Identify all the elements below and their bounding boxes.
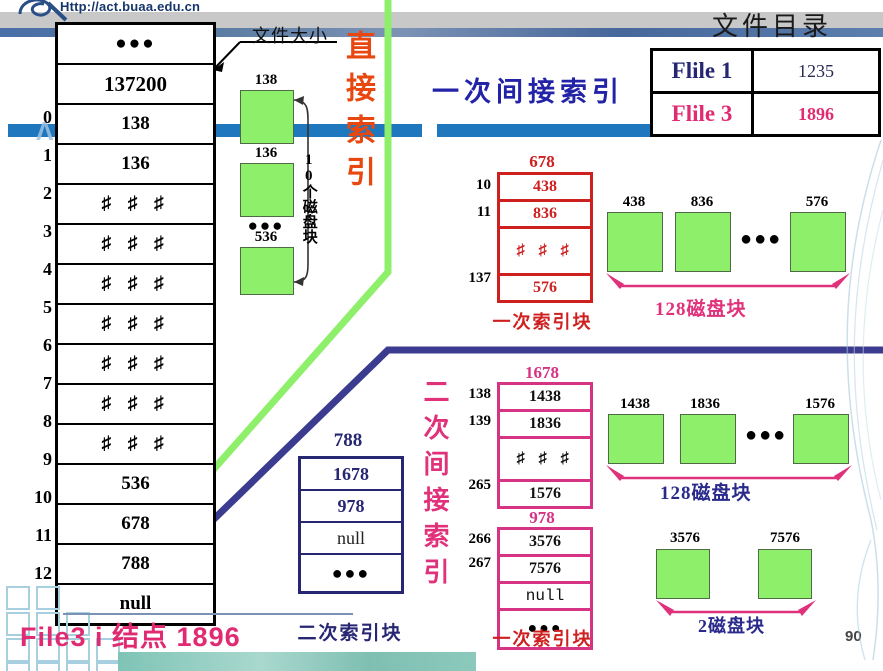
double-index-root-table: 1678 978 null ●●●: [298, 456, 404, 594]
footer-caption: File3 i 结点 1896: [20, 615, 241, 654]
index-row-number: 137: [448, 270, 491, 287]
index-entry[interactable]: 1678: [301, 459, 401, 491]
file-name-cell: Flile 1: [653, 51, 754, 91]
inode-row[interactable]: ♯ ♯ ♯: [58, 265, 213, 305]
single-indirect-caption: 一次间接索引: [432, 70, 624, 109]
index-row-number: 11: [455, 204, 491, 221]
index-entry[interactable]: null: [301, 523, 401, 555]
index-row-number: 265: [448, 477, 491, 494]
index-entry[interactable]: 1836: [500, 412, 590, 439]
disk-block[interactable]: [240, 90, 294, 144]
inode-row[interactable]: 536: [58, 465, 213, 505]
index-entry[interactable]: 1576: [500, 482, 590, 506]
table-row[interactable]: Flile 3 1896: [653, 94, 878, 134]
double-index-root-caption: 二次索引块: [285, 618, 415, 645]
direct-index-caption: 直接索引: [335, 30, 379, 198]
index-entry[interactable]: 3576: [500, 530, 590, 557]
index-entry[interactable]: 438: [500, 175, 590, 202]
disk-block-label: 3576: [655, 530, 715, 547]
disk-block[interactable]: [240, 163, 294, 217]
disk-block-label: 836: [675, 194, 729, 211]
disk-block[interactable]: [607, 212, 663, 272]
disk-block-label: 136: [240, 145, 292, 162]
direct-index-bracket-label: 10个磁盘块: [300, 152, 316, 244]
level2a-header: 1678: [497, 363, 587, 383]
disk-block-label: 1438: [605, 396, 665, 413]
inode-index: 6: [18, 326, 52, 364]
disk-block[interactable]: [656, 549, 710, 599]
decorative-swirl-lines: [793, 140, 883, 660]
inode-index: 7: [18, 364, 52, 402]
disk-block[interactable]: [240, 247, 294, 295]
inode-index: 4: [18, 250, 52, 288]
single-index-block-caption: 一次索引块: [470, 308, 615, 334]
bottom-accent-strip: [118, 652, 476, 671]
inode-index-column: 0 1 2 3 4 5 6 7 8 9 10 11 12: [18, 22, 52, 592]
inode-row[interactable]: ♯ ♯ ♯: [58, 425, 213, 465]
level2b-span-label: 2磁盘块: [698, 612, 765, 638]
index-row-number: 139: [448, 413, 491, 430]
file-directory-table: Flile 1 1235 Flile 3 1896: [650, 48, 881, 137]
index-entry[interactable]: ♯ ♯ ♯: [500, 439, 590, 482]
inode-row[interactable]: ♯ ♯ ♯: [58, 345, 213, 385]
disk-block-ellipsis: ●●●: [740, 228, 782, 251]
disk-block[interactable]: [675, 212, 731, 272]
index-row-number: 266: [448, 531, 491, 548]
disk-block[interactable]: [608, 414, 664, 464]
inode-row[interactable]: ♯ ♯ ♯: [58, 385, 213, 425]
single-index-block-table: 438 836 ♯ ♯ ♯ 576: [497, 172, 593, 303]
index-entry[interactable]: null: [500, 584, 590, 611]
file-size-label: 文件大小: [252, 22, 328, 48]
inode-index: 2: [18, 174, 52, 212]
inode-index: 9: [18, 440, 52, 478]
inode-row[interactable]: 138: [58, 105, 213, 145]
inode-index: 1: [18, 136, 52, 174]
level2b-caption: 一次索引块: [470, 625, 615, 651]
inode-row-filesize: 137200: [58, 65, 213, 105]
index-entry[interactable]: ♯ ♯ ♯: [500, 229, 590, 276]
inode-row[interactable]: 678: [58, 505, 213, 545]
site-url-text: Http://act.buaa.edu.cn: [60, 0, 200, 14]
index-entry[interactable]: 978: [301, 491, 401, 523]
inode-row-dots: ●●●: [58, 25, 213, 65]
single-indirect-span-label: 128磁盘块: [655, 294, 747, 321]
inode-table: ●●● 137200 138 136 ♯ ♯ ♯ ♯ ♯ ♯ ♯ ♯ ♯ ♯ ♯…: [55, 22, 216, 626]
single-index-block-header: 678: [497, 152, 587, 172]
footer-underline: [63, 613, 353, 615]
level2a-table: 1438 1836 ♯ ♯ ♯ 1576: [497, 382, 593, 509]
slide-canvas: Http://act.buaa.edu.cn ΛST 文件目录 Flile 1 …: [0, 0, 883, 671]
index-entry[interactable]: ●●●: [301, 555, 401, 591]
index-row-number: 267: [448, 555, 491, 572]
inode-row[interactable]: 788: [58, 545, 213, 585]
inode-row[interactable]: ♯ ♯ ♯: [58, 305, 213, 345]
inode-index: 5: [18, 288, 52, 326]
disk-block-label: 536: [240, 229, 292, 246]
level2b-header: 978: [497, 508, 587, 528]
inode-row[interactable]: 136: [58, 145, 213, 185]
inode-index: 8: [18, 402, 52, 440]
index-row-number: 10: [455, 177, 491, 194]
file-directory-title: 文件目录: [712, 6, 832, 43]
inode-row[interactable]: ♯ ♯ ♯: [58, 225, 213, 265]
level2a-span-label: 128磁盘块: [660, 478, 752, 505]
index-entry[interactable]: 7576: [500, 557, 590, 584]
disk-block-ellipsis: ●●●: [745, 424, 787, 447]
inode-row[interactable]: ♯ ♯ ♯: [58, 185, 213, 225]
disk-block[interactable]: [680, 414, 736, 464]
index-entry[interactable]: 576: [500, 276, 590, 300]
disk-block-label: 438: [607, 194, 661, 211]
index-entry[interactable]: 836: [500, 202, 590, 229]
index-row-number: 138: [448, 386, 491, 403]
file-name-cell: Flile 3: [653, 94, 754, 134]
inode-index: 3: [18, 212, 52, 250]
double-index-root-header: 788: [298, 430, 398, 452]
file-inode-cell: 1235: [754, 51, 878, 91]
index-entry[interactable]: 1438: [500, 385, 590, 412]
inode-index: 10: [18, 478, 52, 516]
inode-index: 0: [18, 98, 52, 136]
table-row[interactable]: Flile 1 1235: [653, 51, 878, 94]
inode-index: 11: [18, 516, 52, 554]
file-inode-cell: 1896: [754, 94, 878, 134]
disk-block-label: 1836: [675, 396, 735, 413]
disk-block-label: 138: [240, 72, 292, 89]
